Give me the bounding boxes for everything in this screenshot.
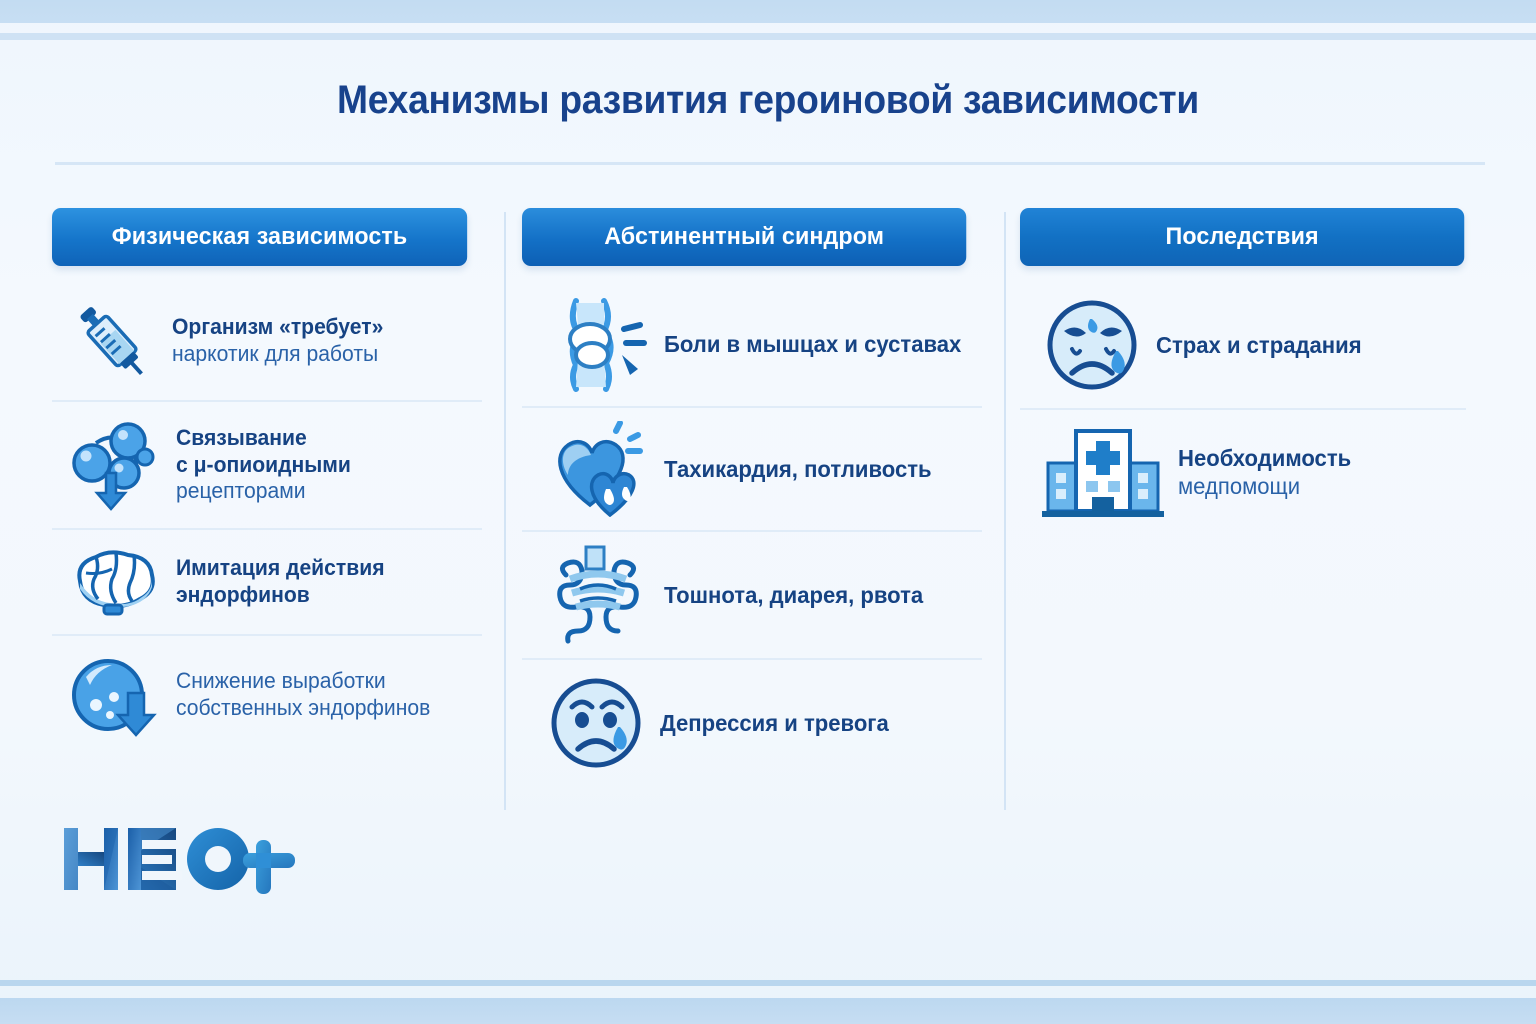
column-divider bbox=[1004, 212, 1006, 810]
item-line-2: собственных эндорфинов bbox=[176, 695, 430, 720]
list-item[interactable]: Снижение выработки собственных эндорфино… bbox=[52, 634, 482, 754]
item-line-1: Тошнота, диарея, рвота bbox=[664, 582, 923, 608]
suffering-face-icon bbox=[1042, 295, 1142, 395]
list-item-text: Снижение выработки собственных эндорфино… bbox=[176, 668, 441, 722]
item-line-2: с μ-опиоидными bbox=[176, 452, 351, 477]
item-line-1: Имитация действия bbox=[176, 555, 385, 580]
list-item[interactable]: Страх и страдания bbox=[1020, 282, 1466, 408]
column-header-label: Физическая зависимость bbox=[112, 223, 408, 251]
top-accent-line bbox=[0, 33, 1536, 40]
syringe-icon bbox=[66, 295, 158, 387]
sad-face-tear-icon bbox=[546, 673, 646, 773]
item-line-2: эндорфинов bbox=[176, 582, 310, 607]
item-line-1: Тахикардия, потливость bbox=[664, 456, 932, 482]
infographic-page: Механизмы развития героиновой зависимост… bbox=[0, 0, 1536, 1024]
column-header-withdrawal-syndrome[interactable]: Абстинентный синдром bbox=[522, 208, 966, 266]
list-item[interactable]: Имитация действия эндорфинов bbox=[52, 528, 482, 634]
list-item-text: Необходимость медпомощи bbox=[1178, 444, 1358, 500]
item-line-1: Необходимость bbox=[1178, 445, 1351, 471]
item-line-3: рецепторами bbox=[176, 478, 306, 503]
items-list-withdrawal-syndrome: Боли в мышцах и суставах bbox=[522, 282, 982, 786]
list-item[interactable]: Организм «требует» наркотик для работы bbox=[52, 282, 482, 400]
list-item[interactable]: Боли в мышцах и суставах bbox=[522, 282, 982, 406]
list-item[interactable]: Тахикардия, потливость bbox=[522, 406, 982, 530]
column-consequences: Последствия bbox=[1004, 208, 1488, 786]
item-line-1: Депрессия и тревога bbox=[660, 710, 889, 736]
item-line-1: Страх и страдания bbox=[1156, 332, 1362, 358]
page-title: Механизмы развития героиновой зависимост… bbox=[54, 78, 1482, 123]
column-header-label: Последствия bbox=[1166, 223, 1319, 251]
list-item-text: Тошнота, диарея, рвота bbox=[664, 581, 934, 609]
neo-plus-logo bbox=[60, 820, 300, 900]
column-physical-dependence: Физическая зависимость bbox=[52, 208, 504, 786]
columns-container: Физическая зависимость bbox=[52, 208, 1488, 786]
heart-sweat-icon bbox=[546, 421, 650, 517]
item-line-1: Боли в мышцах и суставах bbox=[664, 331, 961, 357]
items-list-consequences: Страх и страдания bbox=[1020, 282, 1466, 534]
bottom-accent-line bbox=[0, 980, 1536, 986]
column-withdrawal-syndrome: Абстинентный синдром bbox=[504, 208, 1004, 786]
column-header-consequences[interactable]: Последствия bbox=[1020, 208, 1464, 266]
item-line-1: Связывание bbox=[176, 425, 307, 450]
list-item-text: Имитация действия эндорфинов bbox=[176, 555, 393, 609]
list-item-text: Связывание с μ-опиоидными рецепторами bbox=[176, 425, 358, 505]
list-item-text: Тахикардия, потливость bbox=[664, 455, 943, 483]
endorphin-decline-icon bbox=[66, 649, 162, 741]
molecule-receptor-icon bbox=[66, 415, 162, 515]
list-item-text: Депрессия и тревога bbox=[660, 709, 898, 737]
joint-pain-icon bbox=[546, 295, 650, 393]
list-item[interactable]: Тошнота, диарея, рвота bbox=[522, 530, 982, 658]
list-item[interactable]: Связывание с μ-опиоидными рецепторами bbox=[52, 400, 482, 528]
column-header-physical-dependence[interactable]: Физическая зависимость bbox=[52, 208, 467, 266]
column-header-label: Абстинентный синдром bbox=[604, 223, 884, 251]
item-line-2: медпомощи bbox=[1178, 473, 1300, 499]
top-decorative-band bbox=[0, 0, 1536, 23]
brain-icon bbox=[66, 543, 162, 621]
column-divider bbox=[504, 212, 506, 810]
item-line-1: Снижение выработки bbox=[176, 668, 386, 693]
item-line-2: наркотик для работы bbox=[172, 341, 378, 366]
list-item-text: Страх и страдания bbox=[1156, 331, 1370, 359]
list-item-text: Боли в мышцах и суставах bbox=[664, 330, 974, 358]
list-item-text: Организм «требует» наркотик для работы bbox=[172, 314, 392, 368]
bottom-decorative-band bbox=[0, 998, 1536, 1024]
list-item[interactable]: Депрессия и тревога bbox=[522, 658, 982, 786]
list-item[interactable]: Необходимость медпомощи bbox=[1020, 408, 1466, 534]
title-divider-rule bbox=[55, 162, 1485, 165]
intestines-icon bbox=[546, 545, 650, 645]
items-list-physical-dependence: Организм «требует» наркотик для работы bbox=[52, 282, 482, 754]
item-line-1: Организм «требует» bbox=[172, 314, 383, 339]
hospital-icon bbox=[1042, 423, 1164, 521]
